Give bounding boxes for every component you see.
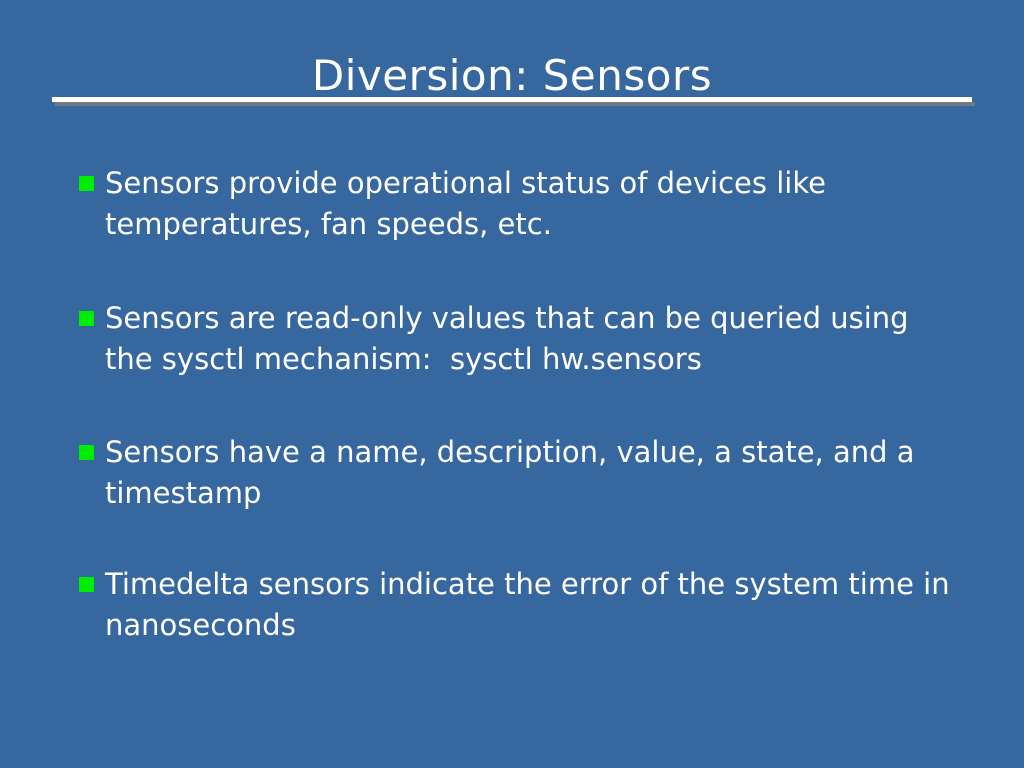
presentation-slide: Diversion: Sensors Sensors provide opera… (0, 0, 1024, 768)
list-item: Timedelta sensors indicate the error of … (78, 564, 958, 646)
list-item-text: Sensors are read-only values that can be… (105, 298, 958, 380)
list-item-text: Sensors have a name, description, value,… (105, 432, 958, 514)
title-divider-line (52, 97, 972, 102)
list-item-text: Sensors provide operational status of de… (105, 163, 958, 245)
page-title: Diversion: Sensors (0, 52, 1024, 100)
slide-body: Sensors provide operational status of de… (78, 163, 958, 646)
square-bullet-icon (79, 445, 94, 460)
square-bullet-icon (79, 577, 94, 592)
title-divider (52, 97, 972, 109)
list-item-text: Timedelta sensors indicate the error of … (105, 564, 958, 646)
list-item: Sensors are read-only values that can be… (78, 298, 958, 380)
slide-title-block: Diversion: Sensors (0, 52, 1024, 100)
title-divider-shadow (55, 102, 975, 106)
list-item: Sensors have a name, description, value,… (78, 432, 958, 514)
list-item: Sensors provide operational status of de… (78, 163, 958, 245)
square-bullet-icon (79, 176, 94, 191)
square-bullet-icon (79, 311, 94, 326)
